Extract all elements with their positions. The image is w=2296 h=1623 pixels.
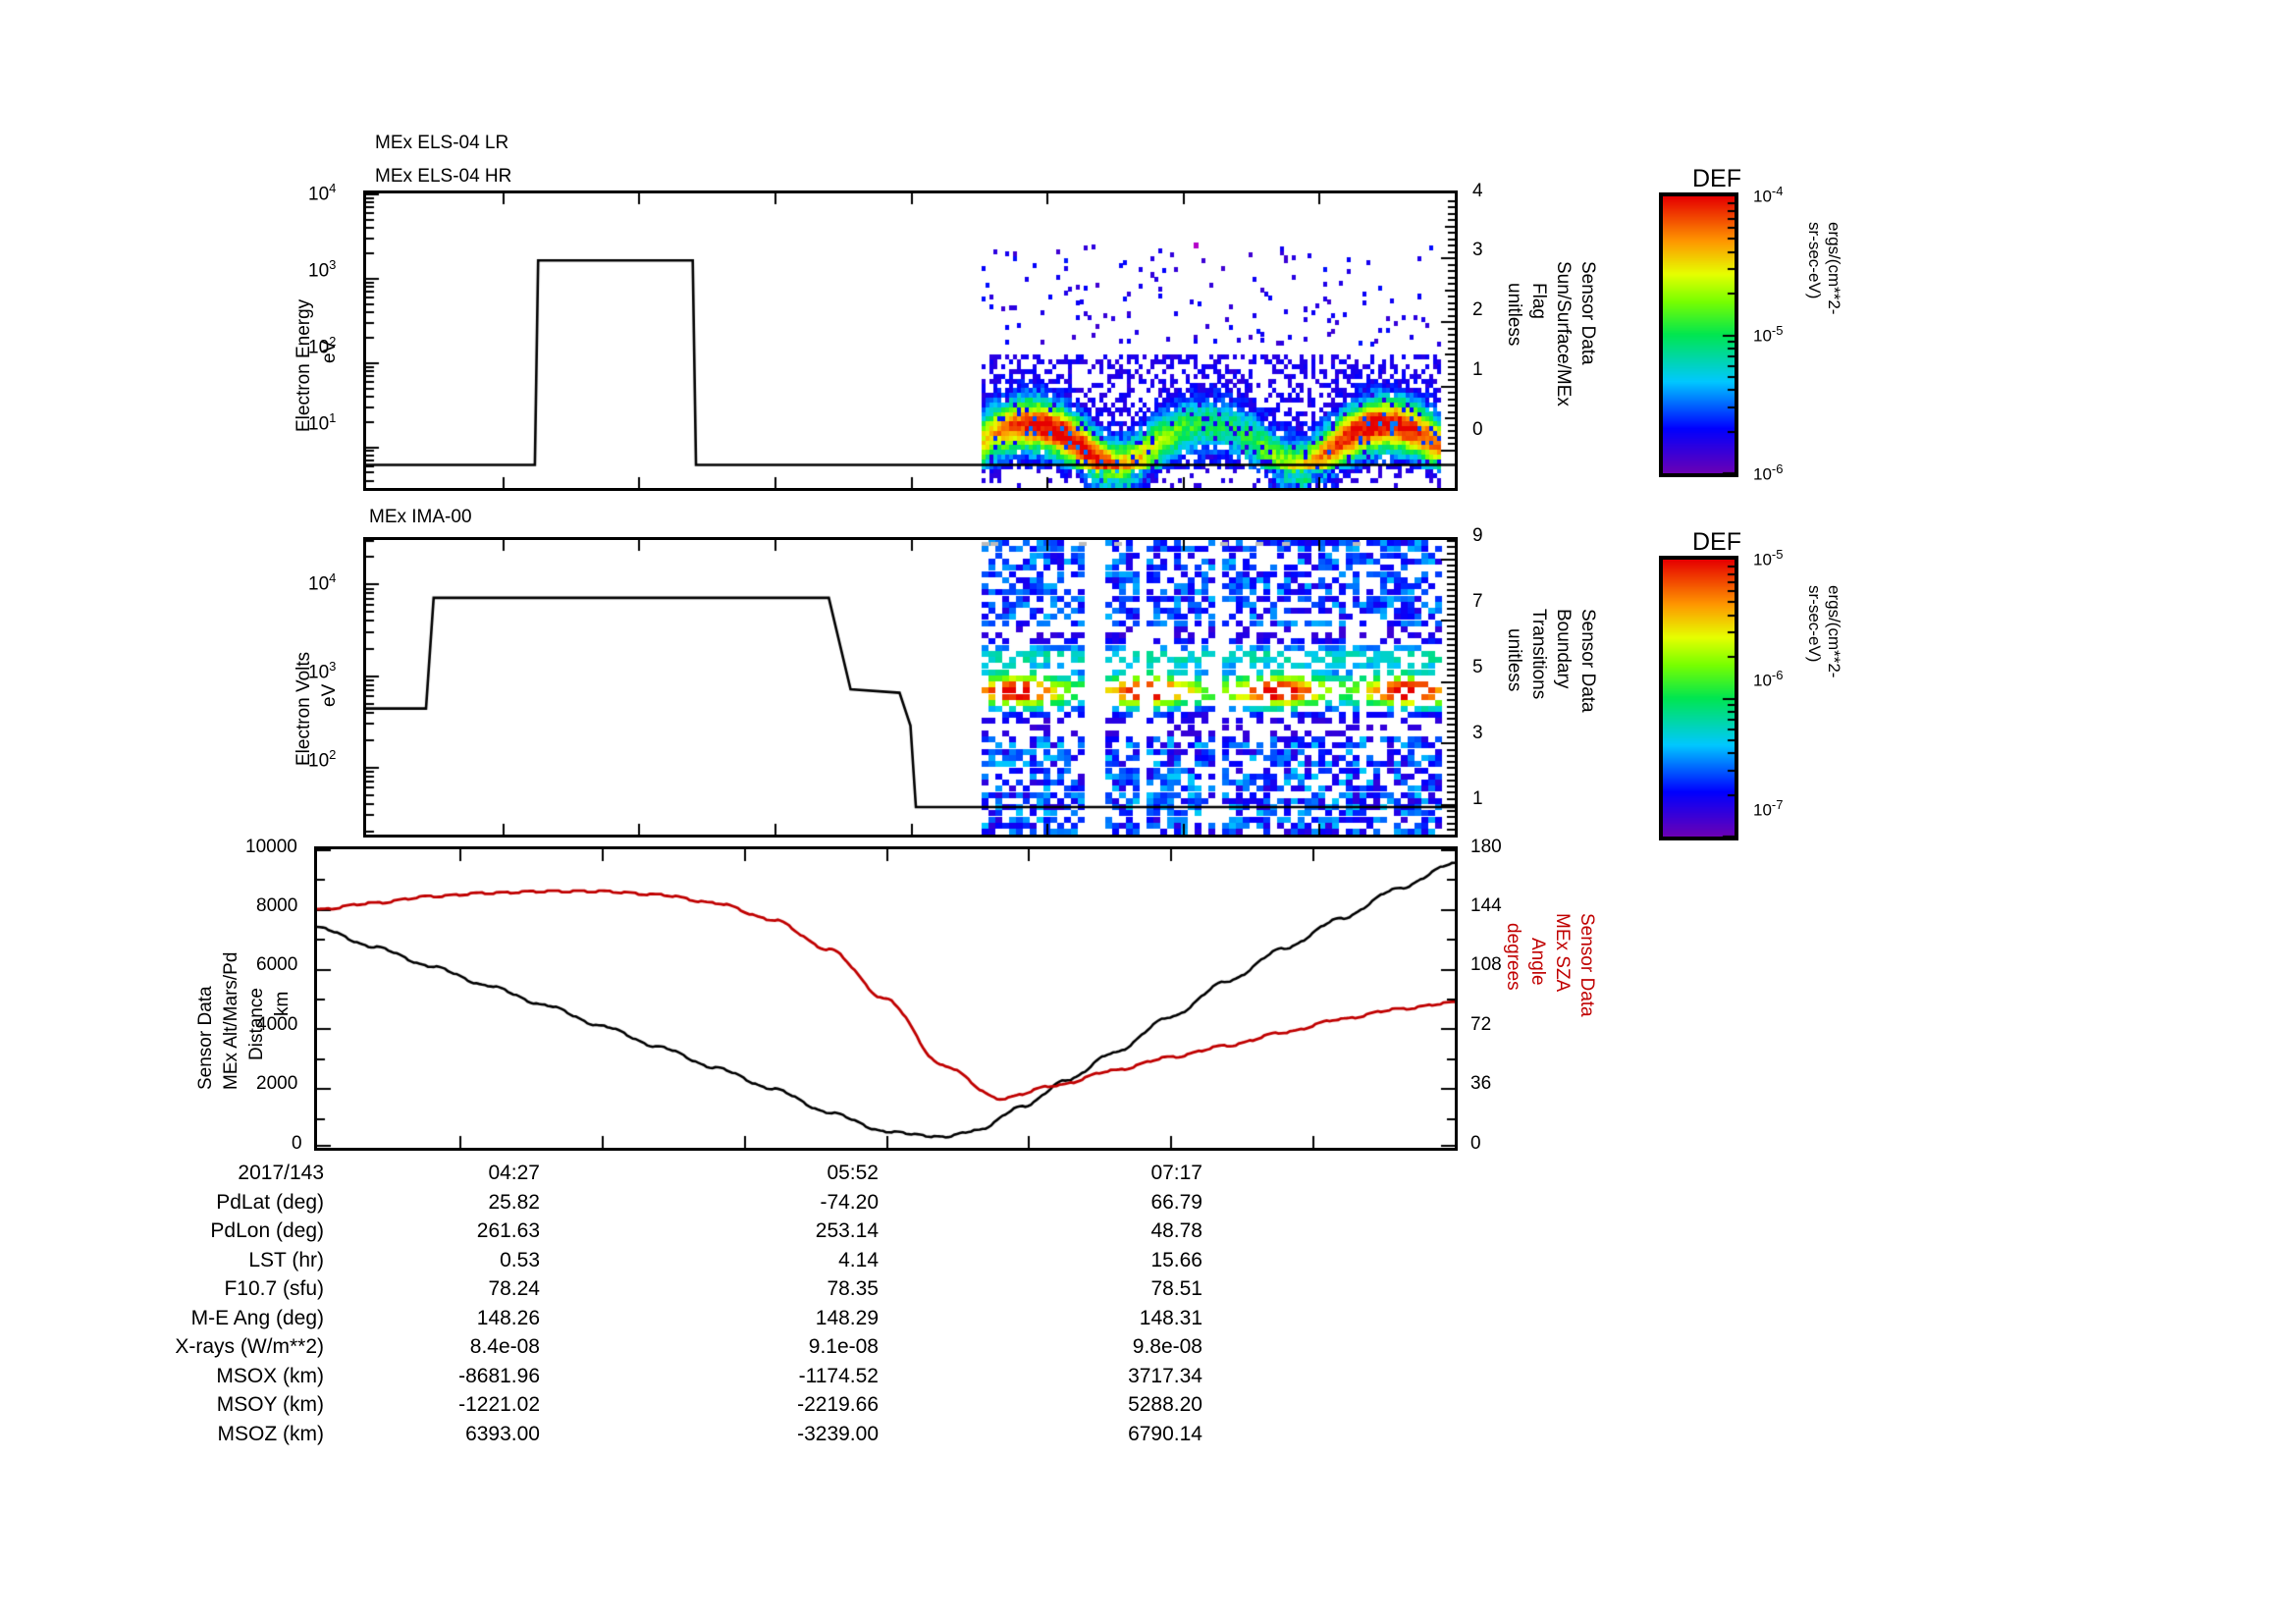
ephemeris-cell: 25.82 [383, 1191, 540, 1215]
panel-els-plot-frame [363, 190, 1458, 491]
ephemeris-cell: -8681.96 [383, 1365, 540, 1388]
ephemeris-row-label: 2017/143 [59, 1162, 324, 1185]
panel-orbit-right-tick-144: 144 [1470, 896, 1502, 915]
ephemeris-cell: 0.53 [383, 1249, 540, 1272]
panel-orbit-right-tick-0: 0 [1470, 1134, 1481, 1153]
tick-exponent: -4 [1772, 184, 1784, 198]
ephemeris-cell: 261.63 [383, 1219, 540, 1243]
panel-orbit-ylabel-line4: km [273, 992, 292, 1016]
panel-ima-right-tick-3: 3 [1472, 724, 1483, 742]
tick-mantissa: 10 [1753, 801, 1772, 820]
tick-mantissa: 10 [308, 573, 329, 594]
colorbar-els-tick-mid: 10-5 [1753, 323, 1783, 347]
tick-exponent: -6 [1772, 668, 1784, 682]
colorbar-ima-tick-bottom: 10-7 [1753, 797, 1783, 821]
panel-orbit-ylabel-line1: Sensor Data [196, 986, 215, 1090]
tick-mantissa: 10 [1753, 188, 1772, 206]
ephemeris-cell: -2219.66 [721, 1393, 879, 1417]
colorbar-ima-tick-mid: 10-6 [1753, 668, 1783, 691]
ephemeris-cell: 8.4e-08 [383, 1335, 540, 1359]
panel-orbit-right-tick-180: 180 [1470, 838, 1502, 856]
panel-orbit-ytick-2000: 2000 [256, 1074, 297, 1093]
panel-orbit-right-tick-72: 72 [1470, 1015, 1491, 1034]
panel-orbit-ytick-6000: 6000 [256, 955, 297, 974]
panel-ima-right-tick-9: 9 [1472, 526, 1483, 545]
tick-exponent: -5 [1772, 323, 1784, 338]
panel-els-right-label-line1: Sensor Data [1578, 261, 1597, 365]
colorbar-els-unit-label: ergs/(cm**2-sr-sec-eV) [1804, 222, 1843, 314]
tick-mantissa: 10 [1753, 327, 1772, 346]
colorbar-ima-gradient [1659, 556, 1738, 840]
colorbar-ima-title: DEF [1692, 530, 1741, 555]
ephemeris-cell: 04:27 [383, 1162, 540, 1185]
tick-exponent: 4 [329, 570, 336, 585]
panel-els-ylabel-line1: Electron Energy [294, 299, 313, 432]
panel-els-right-tick-3: 3 [1472, 241, 1483, 259]
panel-els-ylabel-line2: eV [320, 341, 339, 363]
ephemeris-row-label: PdLat (deg) [59, 1191, 324, 1215]
ephemeris-cell: 78.51 [1045, 1277, 1202, 1301]
colorbar-els-title: DEF [1692, 167, 1741, 191]
colorbar-ima-unit-label: ergs/(cm**2-sr-sec-eV) [1804, 585, 1843, 677]
panel-orbit-right-label-line1: Sensor Data [1577, 913, 1596, 1017]
ephemeris-cell: 148.31 [1045, 1307, 1202, 1330]
panel-orbit-right-label-line2: MEx SZA [1553, 913, 1572, 992]
ephemeris-row-label: MSOY (km) [59, 1393, 324, 1417]
panel-els-right-tick-4: 4 [1472, 182, 1483, 200]
panel-els-ytick-1e3: 103 [308, 258, 336, 280]
ephemeris-cell: 4.14 [721, 1249, 879, 1272]
tick-exponent: -7 [1772, 797, 1784, 812]
ephemeris-cell: -1174.52 [721, 1365, 879, 1388]
panel-ima-ylabel-line1: Electron Volts [294, 652, 313, 766]
ephemeris-cell: 78.24 [383, 1277, 540, 1301]
ephemeris-cell: 05:52 [721, 1162, 879, 1185]
panel-els-right-label-line4: unitless [1505, 283, 1523, 346]
panel-orbit-ylabel-line3: Distance [247, 988, 266, 1060]
panel-ima-plot-frame [363, 537, 1458, 838]
ephemeris-cell: 6393.00 [383, 1423, 540, 1446]
tick-mantissa: 10 [308, 260, 329, 281]
panel-els-right-label-line3: Flag [1529, 283, 1548, 319]
panel-orbit-right-label-line4: degrees [1504, 923, 1522, 991]
ephemeris-cell: 5288.20 [1045, 1393, 1202, 1417]
ephemeris-cell: -3239.00 [721, 1423, 879, 1446]
panel-ima-title: MEx IMA-00 [369, 508, 472, 526]
ephemeris-cell: -1221.02 [383, 1393, 540, 1417]
panel-orbit-ytick-8000: 8000 [256, 896, 297, 915]
ephemeris-cell: 9.8e-08 [1045, 1335, 1202, 1359]
ephemeris-row-label: MSOX (km) [59, 1365, 324, 1388]
panel-els-title-lr: MEx ELS-04 LR [375, 134, 508, 152]
tick-mantissa: 10 [1753, 551, 1772, 569]
panel-orbit-ytick-10000: 10000 [245, 838, 297, 856]
tick-mantissa: 10 [1753, 672, 1772, 690]
ephemeris-cell: 148.26 [383, 1307, 540, 1330]
panel-orbit-plot-frame [314, 846, 1458, 1151]
ephemeris-cell: 07:17 [1045, 1162, 1202, 1185]
ephemeris-cell: 253.14 [721, 1219, 879, 1243]
colorbar-els-tick-bottom: 10-6 [1753, 461, 1783, 485]
tick-exponent: 3 [329, 659, 336, 674]
panel-ima-right-label-line4: unitless [1505, 628, 1523, 691]
tick-exponent: -6 [1772, 461, 1784, 476]
panel-ima-ylabel-line2: eV [320, 684, 339, 707]
colorbar-ima-tick-top: 10-5 [1753, 547, 1783, 570]
panel-ima-right-label-line3: Transitions [1529, 609, 1548, 699]
panel-ima-right-label-line2: Boundary [1554, 609, 1573, 688]
colorbar-els-tick-top: 10-4 [1753, 184, 1783, 207]
tick-mantissa: 10 [308, 184, 329, 204]
panel-els-right-tick-0: 0 [1472, 420, 1483, 439]
panel-els-right-tick-1: 1 [1472, 360, 1483, 379]
ephemeris-cell: 6790.14 [1045, 1423, 1202, 1446]
ephemeris-cell: -74.20 [721, 1191, 879, 1215]
ephemeris-cell: 48.78 [1045, 1219, 1202, 1243]
panel-ima-ytick-1e4: 104 [308, 571, 336, 593]
panel-ima-right-label-line1: Sensor Data [1578, 609, 1597, 713]
ephemeris-cell: 15.66 [1045, 1249, 1202, 1272]
tick-exponent: 3 [329, 257, 336, 272]
panel-ima-right-tick-5: 5 [1472, 658, 1483, 676]
panel-ima-right-tick-7: 7 [1472, 592, 1483, 611]
panel-ima-right-tick-1: 1 [1472, 789, 1483, 808]
panel-els-right-label-line2: Sun/Surface/MEx [1554, 261, 1573, 406]
ephemeris-row-label: PdLon (deg) [59, 1219, 324, 1243]
ephemeris-cell: 3717.34 [1045, 1365, 1202, 1388]
panel-els-title-hr: MEx ELS-04 HR [375, 167, 511, 186]
panel-els-right-tick-2: 2 [1472, 300, 1483, 319]
panel-orbit-ytick-0: 0 [292, 1134, 302, 1153]
ephemeris-cell: 148.29 [721, 1307, 879, 1330]
tick-exponent: 2 [329, 747, 336, 762]
colorbar-els-gradient [1659, 192, 1738, 477]
ephemeris-row-label: MSOZ (km) [59, 1423, 324, 1446]
panel-orbit-right-tick-108: 108 [1470, 955, 1502, 974]
ephemeris-cell: 78.35 [721, 1277, 879, 1301]
tick-mantissa: 10 [1753, 465, 1772, 484]
ephemeris-cell: 66.79 [1045, 1191, 1202, 1215]
panel-els-ytick-1e4: 104 [308, 182, 336, 203]
panel-orbit-ylabel-line2: MEx Alt/Mars/Pd [222, 952, 240, 1090]
ephemeris-row-label: F10.7 (sfu) [59, 1277, 324, 1301]
ephemeris-cell: 9.1e-08 [721, 1335, 879, 1359]
tick-exponent: 1 [329, 410, 336, 425]
tick-exponent: 4 [329, 181, 336, 195]
ephemeris-row-label: M-E Ang (deg) [59, 1307, 324, 1330]
ephemeris-row-label: LST (hr) [59, 1249, 324, 1272]
tick-exponent: -5 [1772, 547, 1784, 562]
ephemeris-row-label: X-rays (W/m**2) [59, 1335, 324, 1359]
panel-orbit-right-label-line3: Angle [1528, 938, 1547, 986]
panel-orbit-right-tick-36: 36 [1470, 1074, 1491, 1093]
